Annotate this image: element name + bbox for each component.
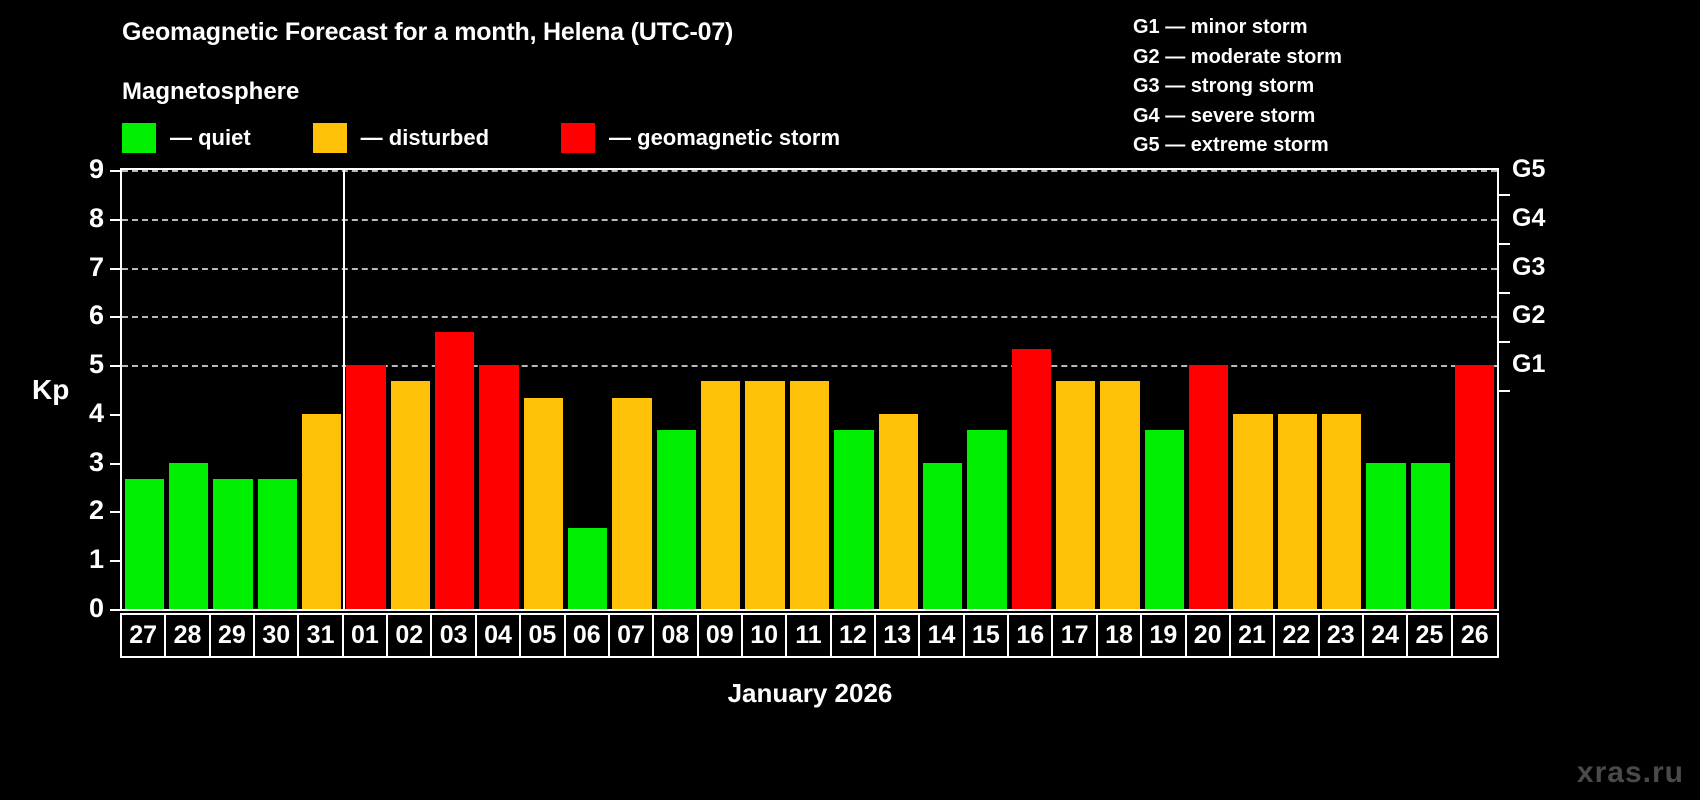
g-tick-label-G5: G5	[1512, 157, 1545, 182]
legend-swatch-disturbed	[313, 123, 347, 153]
bar-03[interactable]	[435, 332, 474, 609]
y-tick-label-2: 2	[58, 497, 104, 524]
y-tick-label-3: 3	[58, 449, 104, 476]
bar-25[interactable]	[1411, 463, 1450, 609]
x-axis-date-18[interactable]: 18	[1098, 615, 1142, 656]
magnetosphere-legend: — quiet — disturbed — geomagnetic storm	[122, 122, 840, 154]
bar-22[interactable]	[1278, 414, 1317, 609]
x-axis-date-07[interactable]: 07	[610, 615, 654, 656]
x-axis-date-22[interactable]: 22	[1275, 615, 1319, 656]
y-tick-mark-2	[110, 511, 121, 513]
bar-17[interactable]	[1056, 381, 1095, 609]
x-axis-date-16[interactable]: 16	[1009, 615, 1053, 656]
x-axis-date-14[interactable]: 14	[920, 615, 964, 656]
bar-20[interactable]	[1189, 365, 1228, 609]
x-axis-date-09[interactable]: 09	[699, 615, 743, 656]
x-axis-date-31[interactable]: 31	[299, 615, 343, 656]
x-axis-date-12[interactable]: 12	[832, 615, 876, 656]
bar-21[interactable]	[1233, 414, 1272, 609]
page-title: Geomagnetic Forecast for a month, Helena…	[122, 18, 733, 47]
legend-swatch-quiet	[122, 123, 156, 153]
bar-12[interactable]	[834, 430, 873, 609]
plot-inner	[122, 170, 1497, 609]
x-axis-date-cells: 2728293031010203040506070809101112131415…	[120, 613, 1499, 658]
x-axis-date-10[interactable]: 10	[743, 615, 787, 656]
x-axis-date-11[interactable]: 11	[787, 615, 831, 656]
gscale-legend-g2: G2 — moderate storm	[1133, 43, 1342, 73]
y-tick-label-7: 7	[58, 254, 104, 281]
y-tick-mark-6	[110, 316, 121, 318]
month-divider	[343, 170, 345, 609]
x-axis-date-17[interactable]: 17	[1053, 615, 1097, 656]
bar-24[interactable]	[1366, 463, 1405, 609]
g-axis-minor-tick	[1499, 390, 1510, 392]
x-axis-date-28[interactable]: 28	[166, 615, 210, 656]
bar-01[interactable]	[346, 365, 385, 609]
y-tick-label-0: 0	[58, 595, 104, 622]
bar-18[interactable]	[1100, 381, 1139, 609]
x-axis-date-27[interactable]: 27	[122, 615, 166, 656]
bar-09[interactable]	[701, 381, 740, 609]
gscale-legend-g5: G5 — extreme storm	[1133, 131, 1342, 161]
bar-29[interactable]	[213, 479, 252, 609]
legend-item-storm: — geomagnetic storm	[561, 123, 840, 153]
g-axis-minor-tick	[1499, 341, 1510, 343]
x-axis-date-30[interactable]: 30	[255, 615, 299, 656]
x-axis-date-01[interactable]: 01	[344, 615, 388, 656]
bar-19[interactable]	[1145, 430, 1184, 609]
gscale-legend-g3: G3 — strong storm	[1133, 72, 1342, 102]
legend-label-storm: — geomagnetic storm	[609, 125, 840, 151]
y-tick-mark-8	[110, 219, 121, 221]
x-axis-date-26[interactable]: 26	[1453, 615, 1497, 656]
y-tick-label-1: 1	[58, 546, 104, 573]
x-axis-date-02[interactable]: 02	[388, 615, 432, 656]
x-axis-date-24[interactable]: 24	[1364, 615, 1408, 656]
legend-item-quiet: — quiet	[122, 123, 251, 153]
bar-10[interactable]	[745, 381, 784, 609]
y-tick-mark-1	[110, 560, 121, 562]
x-axis-date-25[interactable]: 25	[1408, 615, 1452, 656]
y-tick-mark-4	[110, 414, 121, 416]
legend-label-quiet: — quiet	[170, 125, 251, 151]
bars-layer	[122, 170, 1497, 609]
gscale-legend-g4: G4 — severe storm	[1133, 102, 1342, 132]
x-axis-date-03[interactable]: 03	[432, 615, 476, 656]
y-tick-mark-7	[110, 268, 121, 270]
x-axis-date-19[interactable]: 19	[1142, 615, 1186, 656]
bar-15[interactable]	[967, 430, 1006, 609]
x-axis-date-13[interactable]: 13	[876, 615, 920, 656]
bar-07[interactable]	[612, 398, 651, 609]
g-tick-label-G1: G1	[1512, 352, 1545, 377]
y-tick-label-9: 9	[58, 156, 104, 183]
bar-11[interactable]	[790, 381, 829, 609]
gscale-legend-g1: G1 — minor storm	[1133, 13, 1342, 43]
x-axis-date-20[interactable]: 20	[1187, 615, 1231, 656]
bar-27[interactable]	[125, 479, 164, 609]
bar-02[interactable]	[391, 381, 430, 609]
gscale-legend: G1 — minor storm G2 — moderate storm G3 …	[1133, 13, 1342, 161]
y-tick-mark-3	[110, 463, 121, 465]
bar-04[interactable]	[479, 365, 518, 609]
legend-heading: Magnetosphere	[122, 78, 299, 106]
y-tick-label-8: 8	[58, 205, 104, 232]
y-tick-label-6: 6	[58, 302, 104, 329]
x-axis-date-04[interactable]: 04	[477, 615, 521, 656]
legend-label-disturbed: — disturbed	[361, 125, 489, 151]
x-axis-date-06[interactable]: 06	[566, 615, 610, 656]
bar-13[interactable]	[879, 414, 918, 609]
bar-23[interactable]	[1322, 414, 1361, 609]
x-axis-date-08[interactable]: 08	[654, 615, 698, 656]
y-tick-label-4: 4	[58, 400, 104, 427]
bar-26[interactable]	[1455, 365, 1494, 609]
g-axis-minor-tick	[1499, 292, 1510, 294]
g-axis-minor-tick	[1499, 243, 1510, 245]
bar-08[interactable]	[657, 430, 696, 609]
g-axis-minor-tick	[1499, 194, 1510, 196]
y-tick-mark-5	[110, 365, 121, 367]
bar-28[interactable]	[169, 463, 208, 609]
x-axis-date-21[interactable]: 21	[1231, 615, 1275, 656]
legend-item-disturbed: — disturbed	[313, 123, 489, 153]
geomagnetic-forecast-chart: Geomagnetic Forecast for a month, Helena…	[0, 0, 1700, 800]
x-axis-date-29[interactable]: 29	[211, 615, 255, 656]
bar-16[interactable]	[1012, 349, 1051, 609]
y-tick-mark-0	[110, 609, 121, 611]
legend-swatch-storm	[561, 123, 595, 153]
x-axis-date-05[interactable]: 05	[521, 615, 565, 656]
y-tick-label-5: 5	[58, 351, 104, 378]
bar-05[interactable]	[524, 398, 563, 609]
plot-area	[120, 168, 1499, 611]
bar-06[interactable]	[568, 528, 607, 609]
watermark: xras.ru	[1577, 756, 1684, 790]
bar-31[interactable]	[302, 414, 341, 609]
g-tick-label-G4: G4	[1512, 206, 1545, 231]
x-axis-title: January 2026	[0, 678, 1620, 709]
bar-30[interactable]	[258, 479, 297, 609]
g-tick-label-G3: G3	[1512, 255, 1545, 280]
bar-14[interactable]	[923, 463, 962, 609]
x-axis-date-23[interactable]: 23	[1320, 615, 1364, 656]
x-axis-date-15[interactable]: 15	[965, 615, 1009, 656]
y-tick-mark-9	[110, 170, 121, 172]
g-tick-label-G2: G2	[1512, 303, 1545, 328]
